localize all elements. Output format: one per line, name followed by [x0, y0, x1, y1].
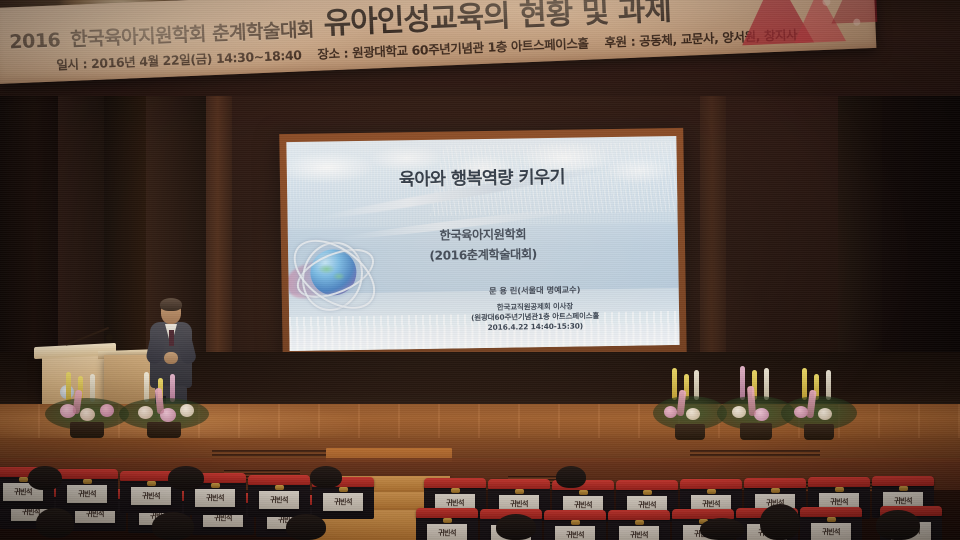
banner-datetime: 일시 : 2016년 4월 22일(금) 14:30~18:40 [56, 49, 302, 72]
attendee-head [496, 514, 536, 540]
flower-spike [144, 372, 149, 402]
seat-badge [643, 490, 652, 495]
microphone-stem [66, 327, 109, 346]
attendee-head [556, 466, 586, 488]
seat-badge [339, 487, 348, 492]
banner-year: 2016 [9, 31, 61, 52]
flower-bloom [686, 408, 700, 420]
seat-reserved-card: 귀빈석 [195, 489, 235, 507]
flower-bloom [138, 406, 153, 419]
attendee-head [152, 512, 194, 540]
seat-reserved-card: 귀빈석 [259, 491, 299, 509]
flower-bloom [818, 408, 832, 420]
auditorium-seat[interactable]: 귀빈석 [608, 510, 670, 540]
seat-reserved-card: 귀빈석 [323, 493, 363, 511]
seat-badge [899, 486, 908, 491]
presenter-tie [169, 330, 174, 346]
seat-badge [275, 485, 284, 490]
seat-headrest [488, 479, 550, 489]
flower-basket [780, 368, 858, 440]
seat-badge [443, 518, 452, 523]
flower-spike [66, 372, 71, 402]
projection-screen-frame: 육아와 행복역량 키우기 한국육아지원학회 (2016춘계학술대회) 문 용 린… [279, 128, 687, 362]
seat-headrest [872, 476, 934, 486]
seat-badge [19, 477, 28, 482]
seat-headrest [808, 477, 870, 487]
auditorium-seat[interactable]: 귀빈석 [800, 507, 862, 540]
basket-pot [740, 423, 772, 440]
attendee-head [36, 508, 74, 538]
seat-badge [827, 517, 836, 522]
seat-reserved-card: 귀빈석 [555, 526, 595, 540]
seat-badge [771, 488, 780, 493]
seat-reserved-card: 귀빈석 [67, 485, 107, 503]
attendee-head [28, 466, 62, 490]
basket-pot [70, 422, 104, 438]
seat-badge [83, 479, 92, 484]
seat-reserved-card: 귀빈석 [427, 524, 467, 540]
attendee-head [760, 504, 800, 540]
seat-reserved-card: 귀빈석 [619, 526, 659, 540]
attendee-head [700, 518, 744, 540]
basket-pot [147, 422, 181, 438]
flower-bloom [732, 406, 746, 418]
seat-headrest [608, 510, 670, 520]
flower-bloom [664, 406, 677, 418]
seat-headrest [56, 469, 118, 479]
attendee-head [286, 514, 326, 540]
flower-spike [802, 368, 807, 400]
seat-headrest [248, 475, 310, 485]
seat-badge [147, 481, 156, 486]
flower-spike [740, 366, 745, 400]
attendee-head [168, 466, 204, 490]
seat-headrest [416, 508, 478, 518]
auditorium-seat[interactable]: 귀빈석 [248, 475, 310, 517]
seat-headrest [744, 478, 806, 488]
seat-headrest [680, 479, 742, 489]
basket-pot [804, 424, 834, 440]
seat-badge [835, 487, 844, 492]
flower-bloom [754, 408, 769, 421]
seat-reserved-card: 귀빈석 [811, 523, 851, 540]
microphone [66, 318, 114, 346]
seat-badge [571, 520, 580, 525]
attendee-head [310, 466, 342, 488]
seat-badge [579, 490, 588, 495]
microphone-head [106, 334, 113, 341]
circle-shape [853, 18, 860, 25]
presenter-hair [160, 298, 182, 311]
flower-bloom [80, 408, 95, 421]
flower-bloom [100, 404, 114, 417]
banner-geometric-graphic [725, 0, 879, 60]
projection-screen: 육아와 행복역량 키우기 한국육아지원학회 (2016춘계학술대회) 문 용 린… [286, 136, 679, 351]
presenter-hands [164, 352, 178, 364]
auditorium-seat[interactable]: 귀빈석 [416, 508, 478, 540]
slide-speaker-name: 문 용 린(서울대 명예교수) [409, 282, 661, 298]
flower-bloom [180, 404, 194, 417]
seat-badge [515, 489, 524, 494]
flower-spike [672, 368, 677, 400]
seat-reserved-card: 귀빈석 [131, 487, 171, 505]
seat-headrest [424, 478, 486, 488]
auditorium-seat[interactable]: 귀빈석 [56, 469, 118, 511]
seat-badge [635, 520, 644, 525]
basket-pot [675, 424, 705, 440]
seat-badge [707, 489, 716, 494]
attendee-head [876, 510, 920, 540]
seat-headrest [544, 510, 606, 520]
seat-headrest [616, 480, 678, 490]
seat-badge [211, 483, 220, 488]
seat-badge [451, 488, 460, 493]
flower-spike [764, 368, 769, 400]
flower-basket [118, 372, 210, 438]
banner-venue: 장소 : 원광대학교 60주년기념관 1층 아트스페이스홀 [317, 37, 589, 61]
seat-headrest [800, 507, 862, 517]
auditorium-seat[interactable]: 귀빈석 [544, 510, 606, 540]
conference-photo: 2016 한국육아지원학회 춘계학술대회 유아인성교육의 현황 및 과제 일시 … [0, 0, 960, 540]
